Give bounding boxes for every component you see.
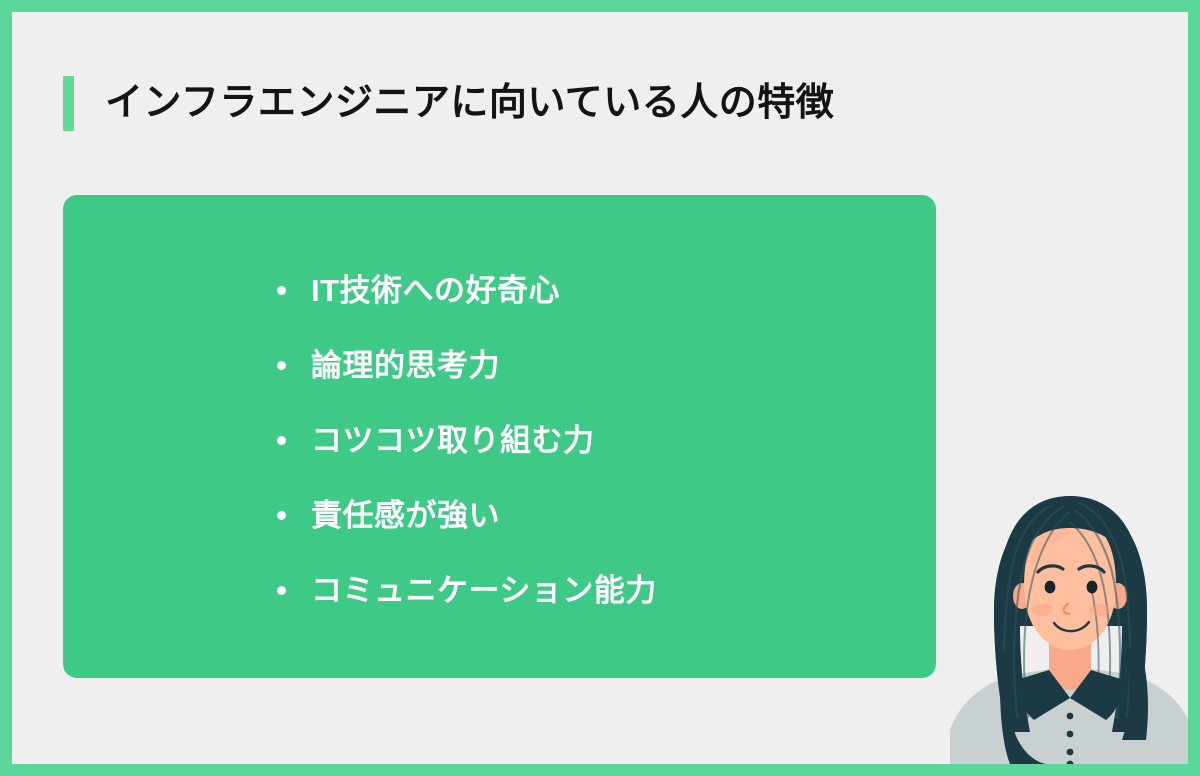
woman-portrait-svg	[950, 488, 1188, 764]
feature-list: IT技術への好奇心 論理的思考力 コツコツ取り組む力 責任感が強い コミュニケー…	[277, 253, 657, 628]
slide-canvas: インフラエンジニアに向いている人の特徴 IT技術への好奇心 論理的思考力 コツコ…	[12, 12, 1188, 764]
title-accent-bar	[63, 76, 74, 131]
list-item: コミュニケーション能力	[277, 553, 657, 628]
slide-root: インフラエンジニアに向いている人の特徴 IT技術への好奇心 論理的思考力 コツコ…	[0, 0, 1200, 776]
bullet-dot-icon	[277, 286, 286, 295]
page-title-text: インフラエンジニアに向いている人の特徴	[105, 84, 834, 122]
eye-right-shape	[1087, 581, 1098, 594]
list-item-label: コミュニケーション能力	[311, 575, 657, 606]
woman-portrait-illustration	[950, 488, 1188, 764]
bullet-dot-icon	[277, 361, 286, 370]
bullet-dot-icon	[277, 586, 286, 595]
list-item: 論理的思考力	[277, 328, 657, 403]
list-item-label: IT技術への好奇心	[311, 275, 560, 306]
list-item: コツコツ取り組む力	[277, 403, 657, 478]
eye-left-shape	[1045, 581, 1056, 594]
list-item-label: コツコツ取り組む力	[311, 425, 595, 456]
list-item-label: 論理的思考力	[311, 350, 500, 381]
bullet-dot-icon	[277, 511, 286, 520]
list-item-label: 責任感が強い	[311, 500, 500, 531]
page-title: インフラエンジニアに向いている人の特徴	[63, 74, 834, 132]
list-item: 責任感が強い	[277, 478, 657, 553]
bullet-dot-icon	[277, 436, 286, 445]
feature-card: IT技術への好奇心 論理的思考力 コツコツ取り組む力 責任感が強い コミュニケー…	[63, 195, 936, 678]
list-item: IT技術への好奇心	[277, 253, 657, 328]
